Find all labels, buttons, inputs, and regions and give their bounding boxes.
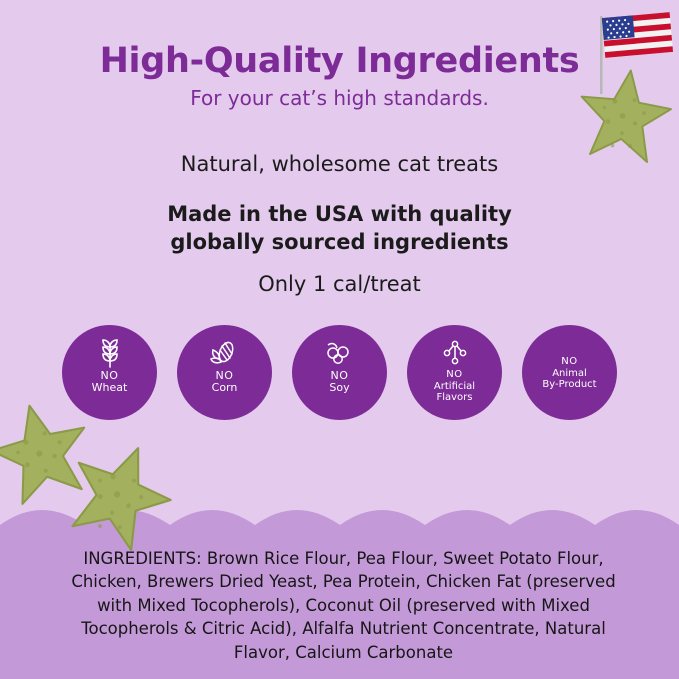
molecule-icon xyxy=(442,338,468,368)
badge-no-label: NO xyxy=(561,357,578,368)
claim-made-in-usa-line2: globally sourced ingredients xyxy=(0,228,679,256)
badge-no-wheat: NO Wheat xyxy=(62,325,157,420)
badge-no-artificial-flavors: NO Artificial Flavors xyxy=(407,325,502,420)
page-subtitle: For your cat’s high standards. xyxy=(0,86,679,110)
claim-calories: Only 1 cal/treat xyxy=(0,272,679,296)
treat-bottom-left-2 xyxy=(62,440,174,556)
claim-natural: Natural, wholesome cat treats xyxy=(0,152,679,176)
corn-icon xyxy=(210,338,240,368)
badge-no-label: NO xyxy=(215,370,233,382)
badge-what-label: Wheat xyxy=(92,382,128,394)
wheat-icon xyxy=(99,338,121,368)
badge-no-label: NO xyxy=(100,370,118,382)
badge-what-label: Soy xyxy=(329,382,349,394)
badge-no-corn: NO Corn xyxy=(177,325,272,420)
product-infographic: High-Quality Ingredients For your cat’s … xyxy=(0,0,679,679)
badge-no-animal-by-product: NO Animal By-Product xyxy=(522,325,617,420)
page-title: High-Quality Ingredients xyxy=(0,41,679,81)
no-badges-row: NO Wheat NO Corn xyxy=(0,325,679,420)
soy-bean-icon xyxy=(324,338,356,368)
badge-what-label: Animal By-Product xyxy=(542,368,596,390)
ingredients-text: INGREDIENTS: Brown Rice Flour, Pea Flour… xyxy=(58,547,629,664)
claim-made-in-usa-line1: Made in the USA with quality xyxy=(0,200,679,228)
badge-what-label: Artificial Flavors xyxy=(434,381,475,403)
badge-no-label: NO xyxy=(446,370,463,381)
claim-made-in-usa: Made in the USA with quality globally so… xyxy=(0,200,679,257)
badge-no-label: NO xyxy=(330,370,348,382)
badge-what-label: Corn xyxy=(212,382,238,394)
badge-no-soy: NO Soy xyxy=(292,325,387,420)
